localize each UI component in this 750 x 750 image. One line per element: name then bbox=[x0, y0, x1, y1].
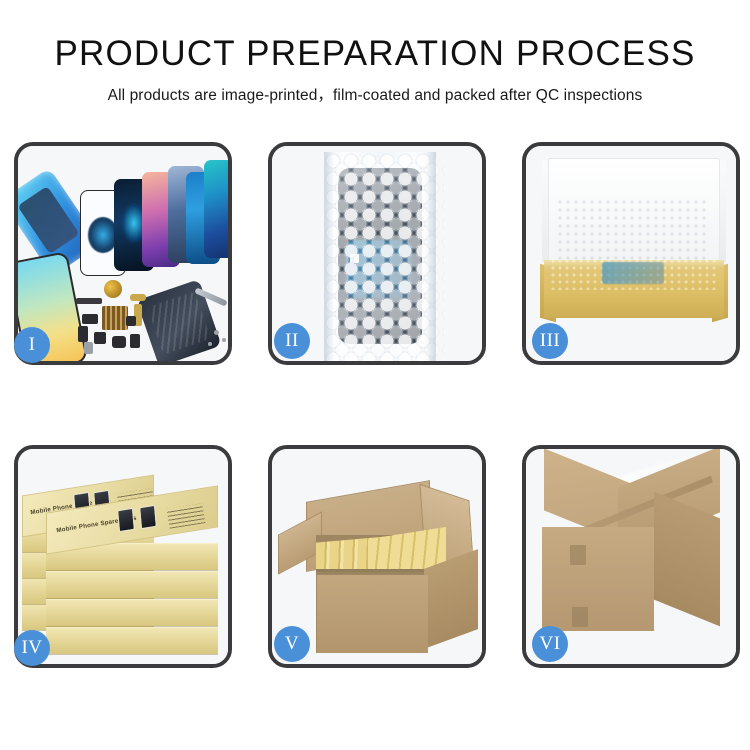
carton-front-panel bbox=[316, 575, 428, 653]
page-title: PRODUCT PREPARATION PROCESS bbox=[0, 34, 750, 74]
box-slab bbox=[46, 599, 218, 626]
step-badge-5: V bbox=[274, 626, 310, 662]
carton-tape-patch-bottom bbox=[572, 607, 588, 627]
phone-teal-display bbox=[204, 160, 228, 258]
step-badge-3: III bbox=[532, 323, 568, 359]
spare-part-button bbox=[130, 334, 140, 348]
spare-part-screw-a bbox=[214, 330, 219, 335]
step-panel-5: V bbox=[268, 445, 486, 668]
page-subtitle: All products are image-printed，film-coat… bbox=[0, 83, 750, 105]
steps-grid: I II bbox=[14, 142, 737, 668]
step-panel-6: VI bbox=[522, 445, 740, 668]
step-panel-2: II bbox=[268, 142, 486, 365]
step-badge-1: I bbox=[14, 327, 50, 363]
box-slab bbox=[46, 571, 218, 598]
step-badge-4: IV bbox=[14, 630, 50, 666]
spare-part-camera bbox=[94, 332, 106, 344]
step-image-1 bbox=[18, 146, 228, 361]
step-panel-1: I bbox=[14, 142, 232, 365]
spare-part-screw-c bbox=[208, 342, 212, 346]
box-thumbnail-a bbox=[117, 508, 135, 532]
sleeve-edge-left bbox=[324, 152, 334, 361]
step-panel-4: Mobile Phone Spare Parts Mobile Phone Sp… bbox=[14, 445, 232, 668]
spare-part-strip bbox=[76, 298, 102, 304]
spare-part-connector-a bbox=[82, 314, 98, 324]
step-panel-3: III bbox=[522, 142, 740, 365]
mailer-contents-accent bbox=[602, 262, 664, 284]
spare-part-module bbox=[112, 336, 126, 348]
box-stack-front: Mobile Phone Spare Parts bbox=[46, 499, 218, 659]
sleeve-edge-right bbox=[426, 152, 436, 361]
step-image-4: Mobile Phone Spare Parts Mobile Phone Sp… bbox=[18, 449, 228, 664]
spare-part-chip bbox=[126, 316, 136, 326]
spare-part-bracket bbox=[84, 342, 93, 354]
spare-part-screw-b bbox=[222, 338, 226, 342]
carton-tape-patch-top bbox=[570, 545, 586, 565]
product-preparation-infographic: PRODUCT PREPARATION PROCESS All products… bbox=[0, 0, 750, 750]
spare-part-connector-b bbox=[78, 326, 88, 342]
box-slab bbox=[46, 627, 218, 654]
phone-back-plate bbox=[136, 279, 221, 361]
mailer-contents bbox=[550, 258, 718, 290]
step-badge-6: VI bbox=[532, 626, 568, 662]
spare-part-board bbox=[102, 306, 128, 330]
carton-front-panel bbox=[542, 527, 654, 631]
spare-part-speaker bbox=[104, 280, 122, 298]
spare-part-flex-a bbox=[130, 294, 146, 301]
box-thumbnail-b bbox=[139, 505, 157, 529]
step-badge-2: II bbox=[274, 323, 310, 359]
header: PRODUCT PREPARATION PROCESS All products… bbox=[0, 0, 750, 105]
